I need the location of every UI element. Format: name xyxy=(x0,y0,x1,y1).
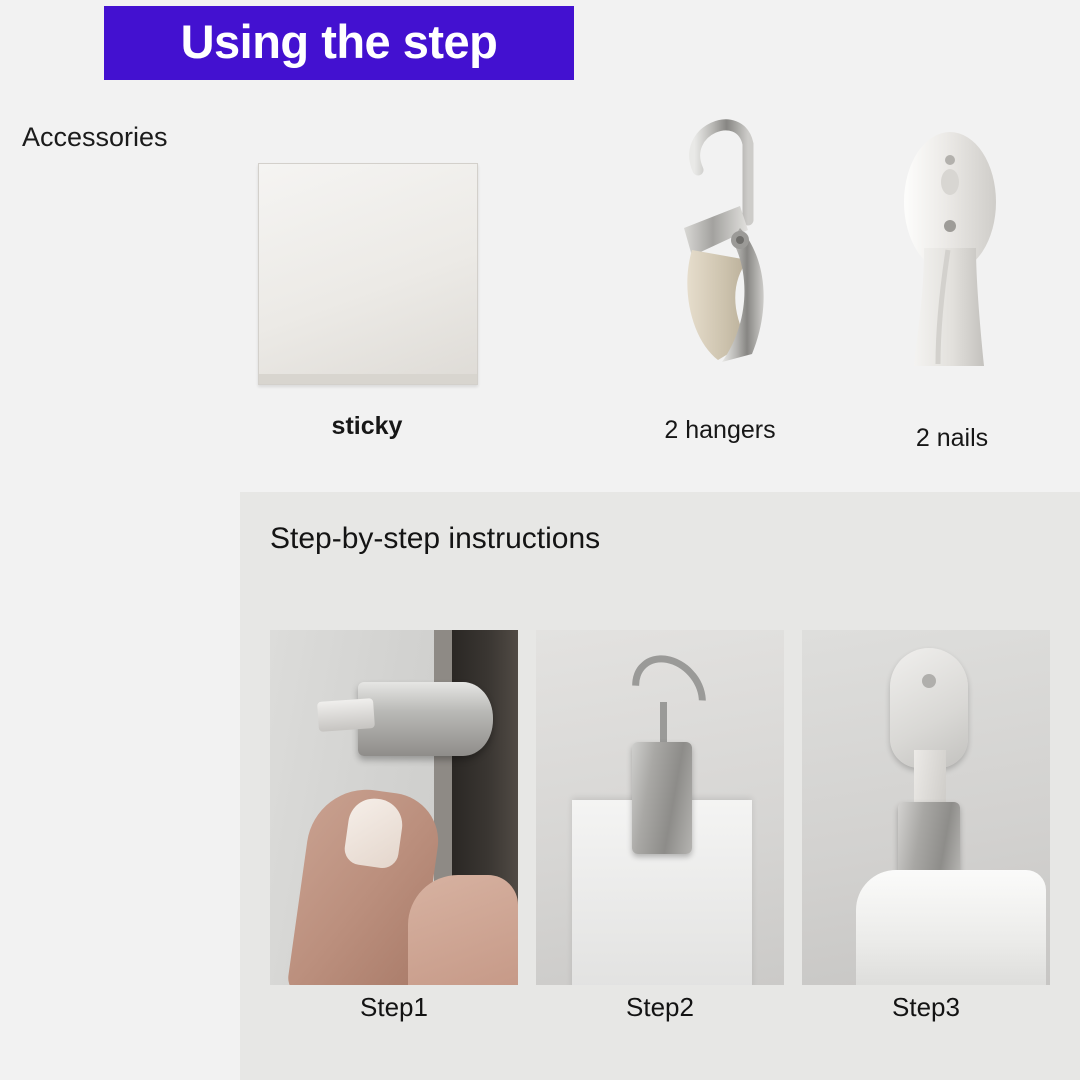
step1-caption: Step1 xyxy=(270,992,518,1032)
step1-metal-clip xyxy=(358,682,493,756)
accessory-caption-hangers: 2 hangers xyxy=(620,416,820,445)
step3-caption: Step3 xyxy=(802,992,1050,1032)
nail-hook-svg xyxy=(880,130,1020,380)
nail-hook-image xyxy=(880,130,1020,380)
step2-caption: Step2 xyxy=(536,992,784,1032)
accessory-caption-text: sticky xyxy=(332,412,403,440)
step1-adhesive-pad xyxy=(317,698,375,732)
hanger-clip-image xyxy=(640,110,800,370)
step-photos-row xyxy=(270,630,1050,985)
accessory-caption-nails: 2 nails xyxy=(872,424,1032,453)
step-captions-row: Step1 Step2 Step3 xyxy=(270,992,1050,1032)
instructions-panel: Step-by-step instructions xyxy=(240,492,1080,1080)
step3-photo xyxy=(802,630,1050,985)
step3-hanging-towel xyxy=(856,870,1046,985)
hanger-clip-svg xyxy=(640,110,800,370)
sticky-pad-image xyxy=(258,163,478,385)
step1-photo xyxy=(270,630,518,985)
step3-plate-hole xyxy=(922,674,936,688)
step1-second-hand xyxy=(408,875,518,985)
instructions-title: Step-by-step instructions xyxy=(270,522,600,556)
accessories-section-label: Accessories xyxy=(22,122,168,153)
accessory-caption-text: 2 hangers xyxy=(664,416,775,444)
step2-photo xyxy=(536,630,784,985)
title-banner: Using the step xyxy=(104,6,574,80)
accessory-caption-text: 2 nails xyxy=(916,424,988,452)
step1-fingernail xyxy=(343,795,406,870)
page-title: Using the step xyxy=(181,18,498,65)
step2-clip-body xyxy=(632,742,692,854)
accessory-caption-sticky: sticky xyxy=(258,412,476,441)
